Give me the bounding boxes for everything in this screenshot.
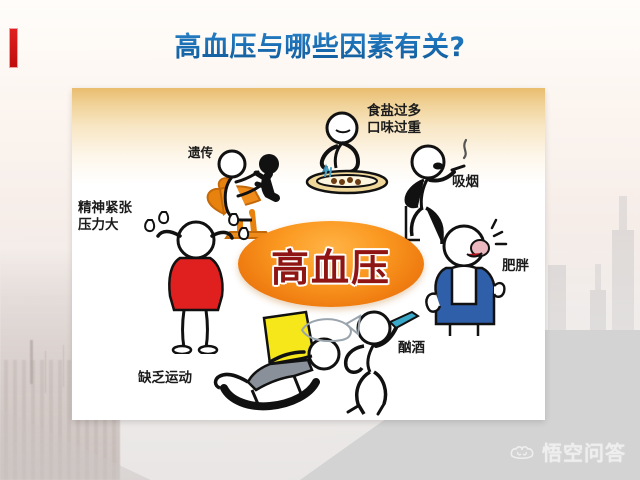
watermark-text: 悟空问答 xyxy=(542,437,626,466)
factor-label-obesity: 肥胖 xyxy=(502,258,529,275)
slide-header: 高血压与哪些因素有关? xyxy=(0,24,640,72)
factor-label-inactive: 缺乏运动 xyxy=(138,370,192,387)
infographic-card: 遗传 食盐过多 口味过重 xyxy=(72,88,545,420)
center-node-label: 高血压 xyxy=(238,221,424,307)
factor-label-alcohol: 酗酒 xyxy=(398,340,425,357)
stressed-person-icon xyxy=(140,206,250,354)
factor-label-heredity: 遗传 xyxy=(188,145,213,160)
watermark: 悟空问答 xyxy=(509,437,626,466)
decorative-scribble-icon xyxy=(294,310,364,346)
center-node-hypertension: 高血压 xyxy=(238,221,424,307)
factor-label-salt: 食盐过多 口味过重 xyxy=(367,103,421,137)
factor-label-stress: 精神紧张 压力大 xyxy=(78,200,132,234)
factor-label-smoking: 吸烟 xyxy=(452,174,479,191)
wukong-monkey-icon xyxy=(509,443,535,461)
page-title: 高血压与哪些因素有关? xyxy=(0,24,640,72)
slide-root: 高血压与哪些因素有关? 遗传 xyxy=(0,0,640,480)
